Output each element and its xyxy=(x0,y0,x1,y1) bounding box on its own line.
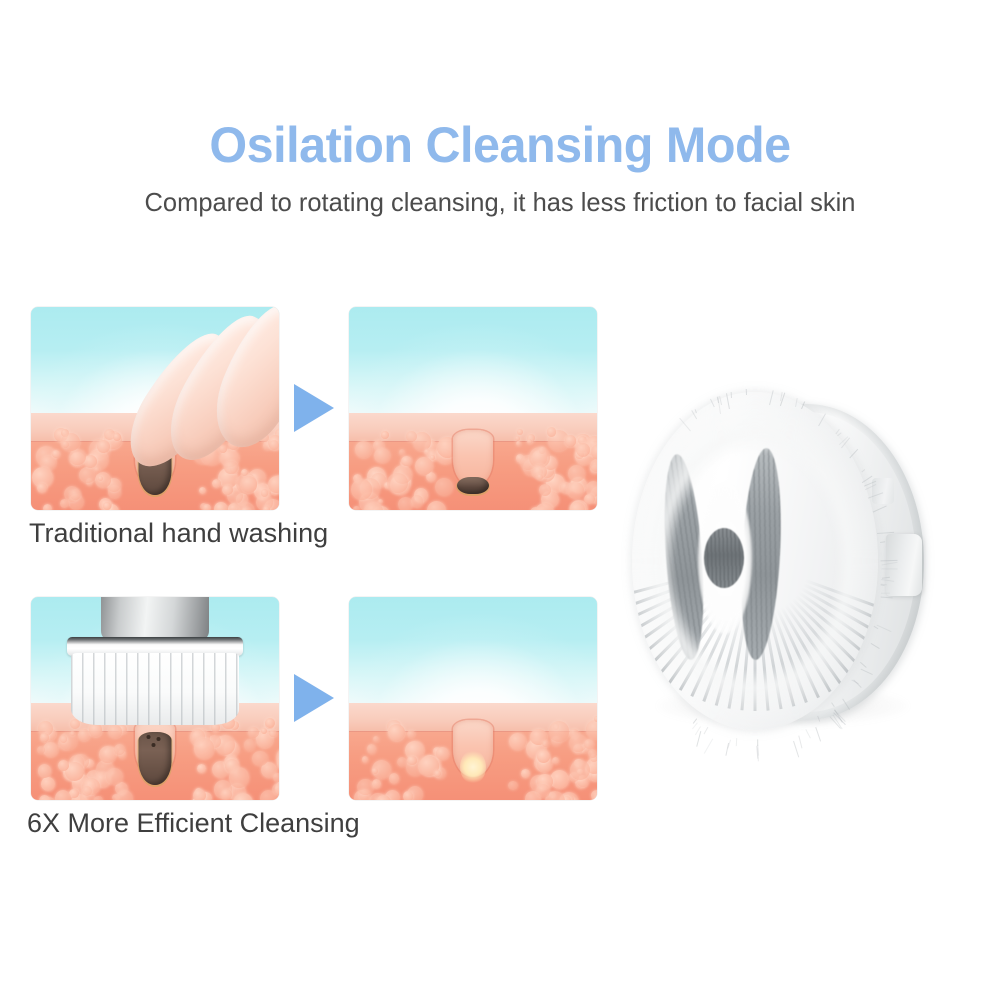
arrow-icon-row2 xyxy=(294,674,334,722)
clean-pore-glow xyxy=(460,750,486,784)
panel-sky-background xyxy=(349,597,597,703)
caption-brush: 6X More Efficient Cleansing xyxy=(27,806,360,840)
arrow-icon-row1 xyxy=(294,384,334,432)
brush-handle xyxy=(101,597,209,641)
brush-bristle-head xyxy=(71,653,239,725)
panel-brush-after xyxy=(349,597,597,800)
panel-brush-before xyxy=(31,597,279,800)
housing-side-tab xyxy=(886,534,922,596)
page-title: Osilation Cleansing Mode xyxy=(15,116,985,174)
panel-traditional-after xyxy=(349,307,597,510)
pore-shape xyxy=(450,708,496,788)
pore-dirt-plug xyxy=(139,732,172,785)
dirt-specks xyxy=(139,732,172,785)
washing-fingers xyxy=(31,307,279,510)
product-photo-brush-head xyxy=(624,386,964,746)
page-subtitle: Compared to rotating cleansing, it has l… xyxy=(10,186,990,218)
pore-dirt-residue xyxy=(457,477,489,495)
panel-traditional-before xyxy=(31,307,279,510)
pore-group xyxy=(349,703,597,800)
infographic-canvas: Osilation Cleansing Mode Compared to rot… xyxy=(0,0,1000,1000)
pore-shape xyxy=(450,418,496,498)
caption-traditional: Traditional hand washing xyxy=(29,516,328,550)
panel-sky-background xyxy=(349,307,597,413)
pore-group xyxy=(349,413,597,510)
